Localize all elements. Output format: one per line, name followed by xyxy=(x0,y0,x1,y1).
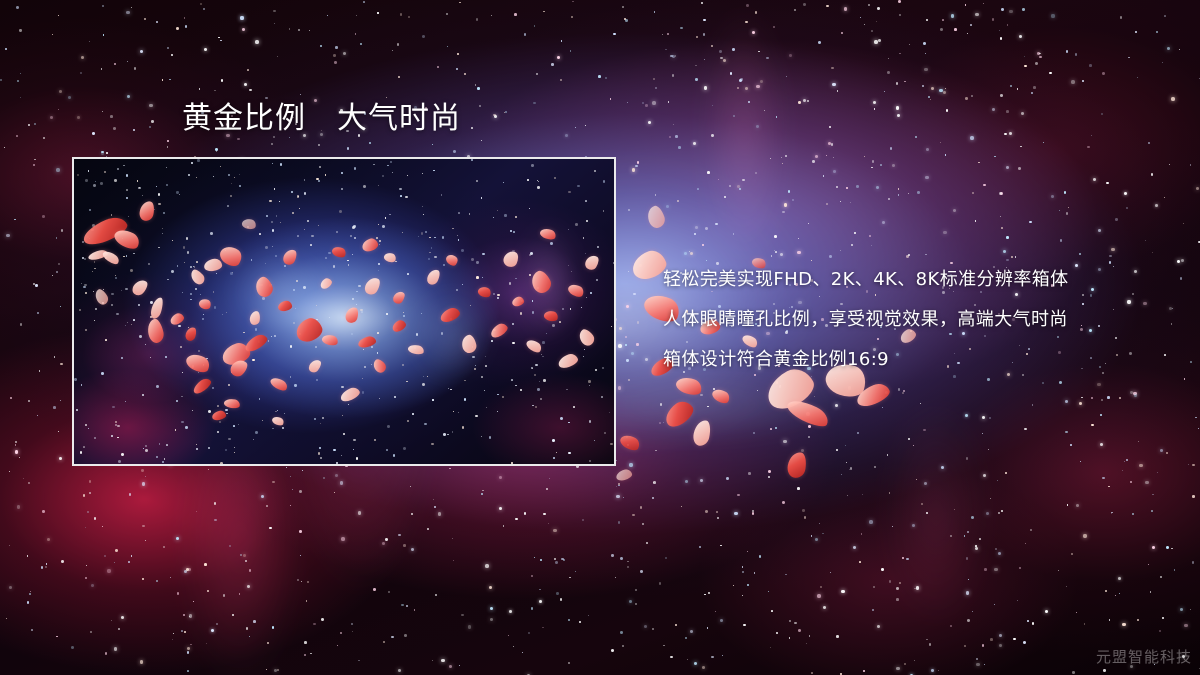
body-line-1: 轻松完美实现FHD、2K、4K、8K标准分辨率箱体 xyxy=(663,260,1183,300)
framed-image xyxy=(72,157,616,466)
body-copy: 轻松完美实现FHD、2K、4K、8K标准分辨率箱体 人体眼睛瞳孔比例，享受视觉效… xyxy=(663,260,1183,380)
body-line-2: 人体眼睛瞳孔比例，享受视觉效果，高端大气时尚 xyxy=(663,300,1183,340)
watermark: 元盟智能科技 xyxy=(1096,646,1192,667)
page-title: 黄金比例 大气时尚 xyxy=(182,102,461,135)
body-line-3: 箱体设计符合黄金比例16:9 xyxy=(663,340,1183,380)
inner-nebula-wisps xyxy=(74,159,614,464)
slide-canvas: 黄金比例 大气时尚 轻松完美实现FHD、2K、4K、8K标准分辨率箱体 人体眼睛… xyxy=(0,0,1200,675)
